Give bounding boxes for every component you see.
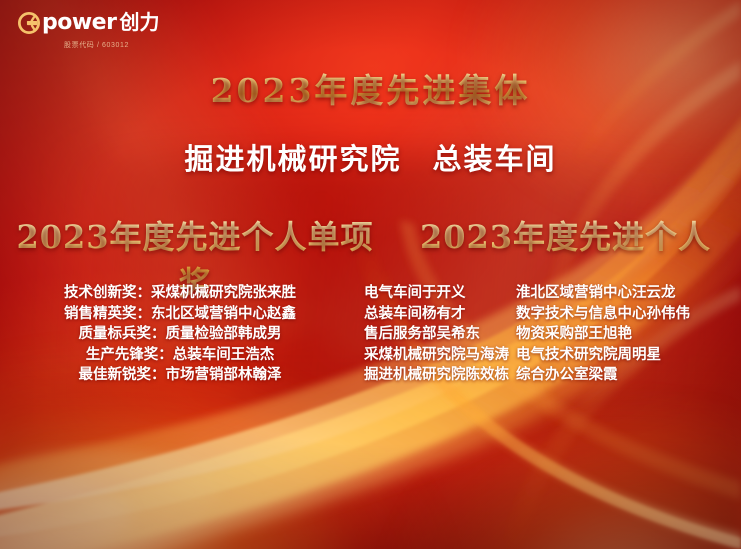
- list-item: 掘进机械研究院陈效栋 综合办公室梁霞: [364, 365, 741, 386]
- list-item: 质量标兵奖：质量检验部韩成男: [0, 324, 360, 345]
- list-item: 生产先锋奖：总装车间王浩杰: [0, 345, 360, 366]
- left-award-list: 技术创新奖：采煤机械研究院张来胜 销售精英奖：东北区域营销中心赵鑫 质量标兵奖：…: [0, 283, 360, 386]
- award-name-left: 电气车间于开义: [364, 283, 516, 304]
- right-award-list: 电气车间于开义 淮北区域营销中心汪云龙 总装车间杨有才 数字技术与信息中心孙伟伟…: [360, 283, 741, 386]
- award-name-right: 数字技术与信息中心孙伟伟: [516, 304, 741, 325]
- poster-content: 2023年度先进集体 掘进机械研究院 总装车间 2023年度先进个人单项奖 20…: [0, 0, 741, 549]
- page-title: 2023年度先进集体: [0, 64, 741, 112]
- award-name-left: 总装车间杨有才: [364, 304, 516, 325]
- list-item: 最佳新锐奖：市场营销部林翰泽: [0, 365, 360, 386]
- list-item: 电气车间于开义 淮北区域营销中心汪云龙: [364, 283, 741, 304]
- poster-canvas: power 创力 股票代码 / 603012 2023年度先进集体 掘进机械研究…: [0, 0, 741, 549]
- list-item: 采煤机械研究院马海涛 电气技术研究院周明星: [364, 345, 741, 366]
- award-lists: 技术创新奖：采煤机械研究院张来胜 销售精英奖：东北区域营销中心赵鑫 质量标兵奖：…: [0, 283, 741, 386]
- award-name-right: 综合办公室梁霞: [516, 365, 741, 386]
- award-name-left: 采煤机械研究院马海涛: [364, 345, 516, 366]
- award-name-right: 电气技术研究院周明星: [516, 345, 741, 366]
- list-item: 技术创新奖：采煤机械研究院张来胜: [0, 283, 360, 304]
- award-name-right: 淮北区域营销中心汪云龙: [516, 283, 741, 304]
- list-item: 总装车间杨有才 数字技术与信息中心孙伟伟: [364, 304, 741, 325]
- award-name-left: 掘进机械研究院陈效栋: [364, 365, 516, 386]
- list-item: 售后服务部吴希东 物资采购部王旭艳: [364, 324, 741, 345]
- award-name-right: 物资采购部王旭艳: [516, 324, 741, 345]
- page-subtitle: 掘进机械研究院 总装车间: [0, 136, 741, 178]
- award-name-left: 售后服务部吴希东: [364, 324, 516, 345]
- list-item: 销售精英奖：东北区域营销中心赵鑫: [0, 304, 360, 325]
